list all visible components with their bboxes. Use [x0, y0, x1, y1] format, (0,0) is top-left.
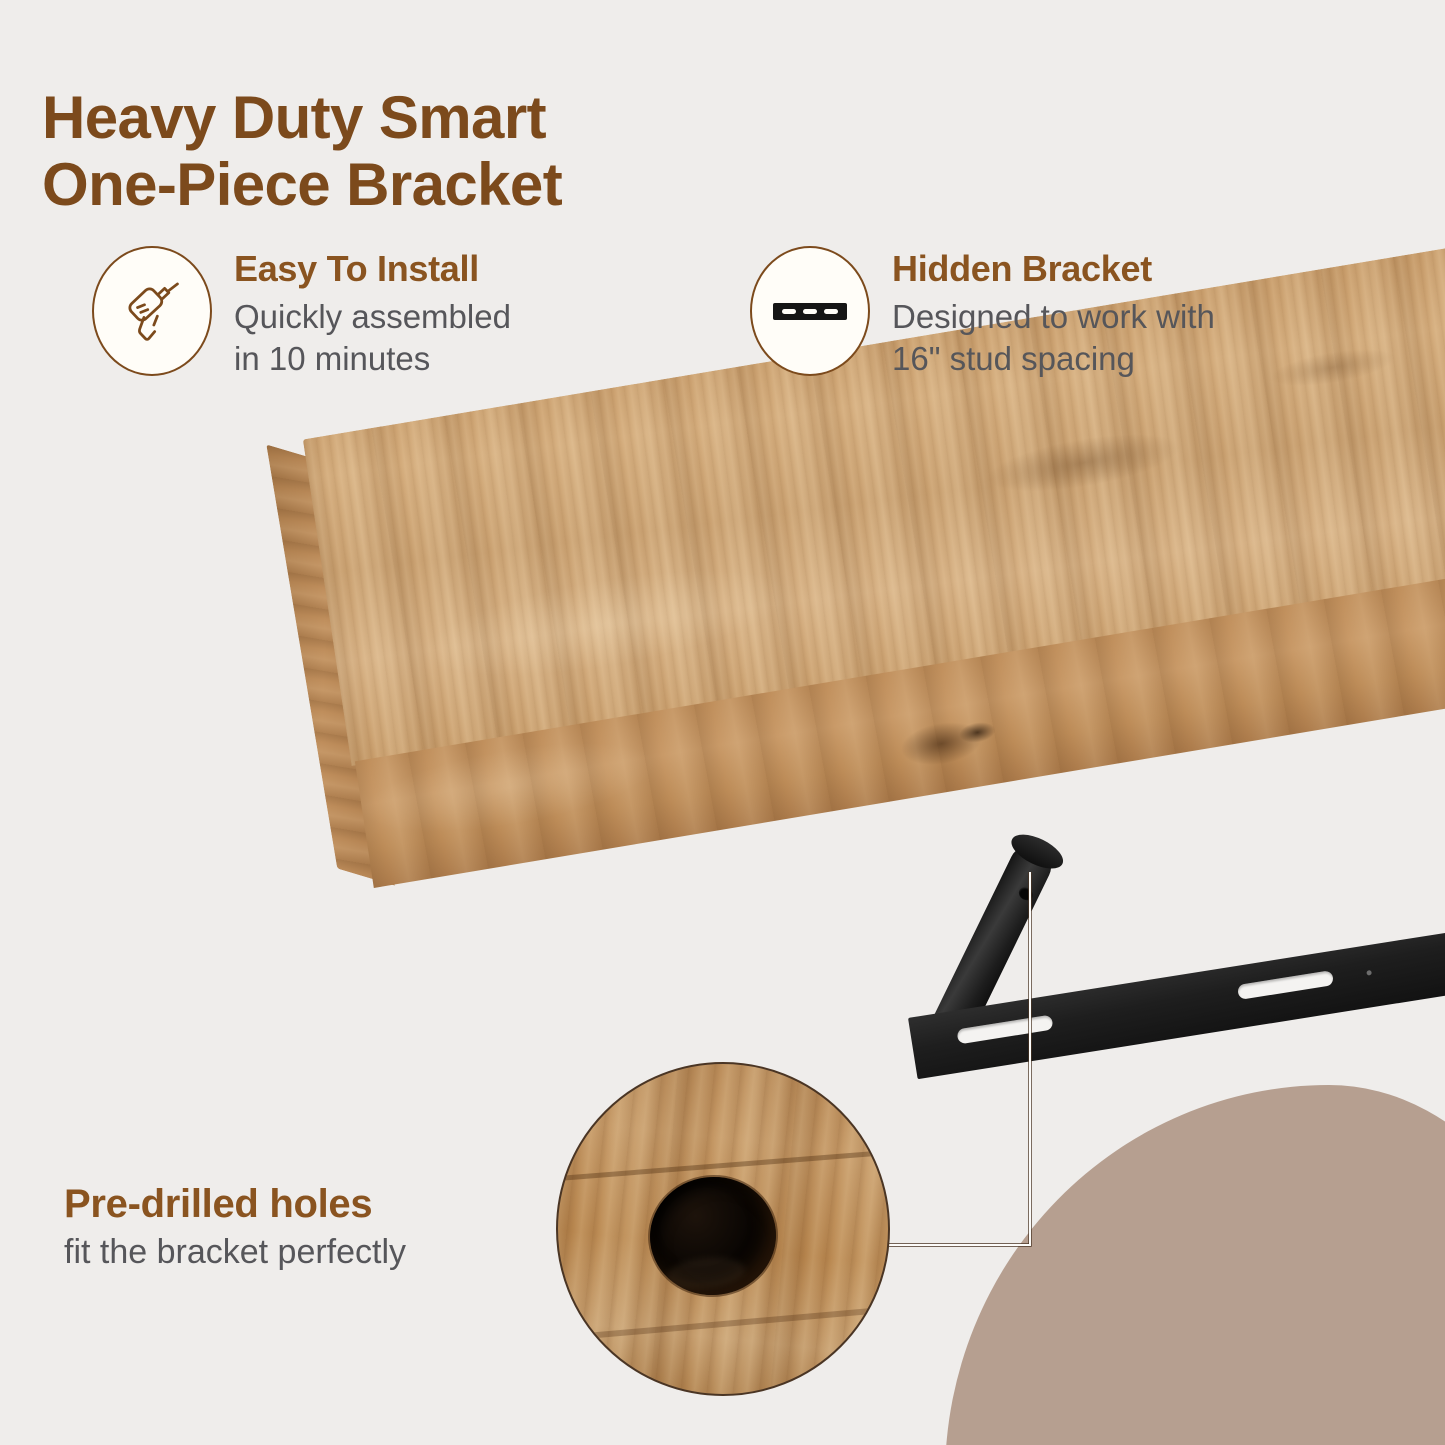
bracket-bar-icon-badge: [750, 246, 870, 376]
pre-drilled-holes-caption: Pre-drilled holes fit the bracket perfec…: [64, 1182, 584, 1273]
bracket-slot: [1237, 970, 1334, 1000]
feature-text: Easy To Install Quickly assembled in 10 …: [234, 246, 511, 380]
feature-text: Hidden Bracket Designed to work with 16"…: [892, 246, 1215, 380]
caption-title: Pre-drilled holes: [64, 1182, 584, 1226]
bracket-bar-icon: [773, 303, 847, 320]
pre-drilled-hole: [644, 1171, 782, 1302]
drill-icon: [115, 274, 189, 348]
drill-icon-badge: [92, 246, 212, 376]
feature-hidden-bracket: Hidden Bracket Designed to work with 16"…: [750, 246, 1350, 380]
caption-subtitle: fit the bracket perfectly: [64, 1232, 584, 1273]
bracket-slot-glyph: [824, 309, 838, 314]
feature-title: Easy To Install: [234, 250, 511, 288]
bracket-slot-glyph: [803, 309, 817, 314]
headline-line-1: Heavy Duty Smart: [42, 84, 546, 151]
wood-grain-seam: [556, 1304, 890, 1344]
feature-description: Quickly assembled in 10 minutes: [234, 296, 511, 380]
bracket-slot-glyph: [782, 309, 796, 314]
feature-easy-to-install: Easy To Install Quickly assembled in 10 …: [92, 246, 692, 380]
feature-description: Designed to work with 16" stud spacing: [892, 296, 1215, 380]
bracket-slot: [956, 1015, 1053, 1045]
feature-list: Easy To Install Quickly assembled in 10 …: [92, 246, 1392, 380]
bracket-screw-dot: [1366, 970, 1372, 976]
page-title: Heavy Duty Smart One-Piece Bracket: [42, 84, 942, 218]
headline-line-2: One-Piece Bracket: [42, 151, 942, 218]
feature-title: Hidden Bracket: [892, 250, 1215, 288]
infographic-canvas: Heavy Duty Smart One-Piece Bracket Easy …: [0, 0, 1445, 1445]
hole-detail-magnifier: [556, 1062, 890, 1396]
